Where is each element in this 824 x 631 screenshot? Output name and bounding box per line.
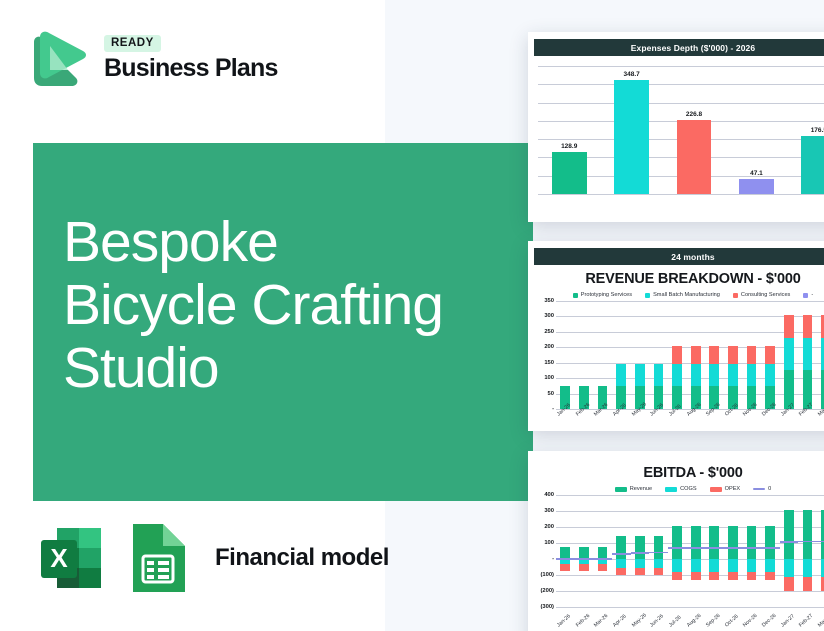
bar-segment [803, 338, 813, 370]
hero-panel: Bespoke Bicycle Crafting Studio [33, 143, 533, 501]
y-tick-label: 100 [544, 540, 554, 546]
bar-slot [817, 495, 824, 607]
bar-slot [556, 495, 575, 607]
bar-positive [747, 526, 757, 559]
revenue-chart-title: REVENUE BREAKDOWN - $'000 [528, 271, 824, 287]
x-tick-label: Sep-26 [705, 612, 723, 629]
bar: 128.9 [552, 152, 587, 194]
bar-segment [747, 526, 757, 559]
bar-slot [724, 495, 743, 607]
zero-line-segment [761, 547, 780, 549]
bar-slot [631, 495, 650, 607]
ebitda-legend: RevenueCOGSOPEX0 [528, 486, 824, 492]
bar-negative [616, 559, 626, 575]
bar-slot [817, 301, 824, 409]
legend-swatch [573, 293, 578, 298]
bar-segment [784, 559, 794, 577]
x-tick-label: Mar-27 [817, 612, 824, 629]
stacked-bar [616, 301, 626, 409]
bar-positive [579, 547, 589, 559]
legend-item: COGS [665, 486, 696, 492]
bar-slot [593, 301, 612, 409]
bar-slot [649, 301, 668, 409]
bar-slot: 348.7 [600, 66, 662, 194]
bar-slot [798, 301, 817, 409]
bar-segment [672, 364, 682, 386]
bar-segment [709, 346, 719, 364]
bar: 176.5 [801, 136, 824, 194]
bar-segment [784, 510, 794, 559]
poster-canvas: READY Business Plans Bespoke Bicycle Cra… [0, 0, 824, 631]
brand-logo-text: READY Business Plans [104, 35, 278, 81]
bar-negative [598, 559, 608, 571]
bar-segment [709, 572, 719, 580]
bar-slot [668, 301, 687, 409]
page-title: Bespoke Bicycle Crafting Studio [63, 211, 503, 400]
bar-segment [560, 547, 570, 559]
ebitda-y-axis: 400300200100-(100)(200)(300) [532, 495, 556, 607]
stacked-bar [560, 301, 570, 409]
stacked-bar [672, 301, 682, 409]
chart-card-expenses[interactable]: Expenses Depth ($'000) - 2026 128.9348.7… [528, 32, 824, 222]
bar-value-label: 176.5 [811, 127, 824, 134]
bar-segment [598, 564, 608, 571]
bar-segment [784, 338, 794, 370]
legend-item: Revenue [615, 486, 652, 492]
bar-segment [672, 346, 682, 364]
bar-negative [803, 559, 813, 591]
y-tick-label: 200 [544, 344, 554, 350]
y-tick-label: 150 [544, 360, 554, 366]
stacked-bar [747, 301, 757, 409]
legend-label: - [811, 292, 813, 298]
bar-segment [579, 564, 589, 571]
legend-item: Small Batch Manufacturing [645, 292, 720, 298]
bar-segment [747, 346, 757, 364]
ebitda-chart-title: EBITDA - $'000 [528, 465, 824, 481]
zero-line-segment [742, 547, 761, 549]
microsoft-excel-icon[interactable]: X [33, 520, 109, 596]
gridline [556, 607, 824, 608]
bar-segment [803, 315, 813, 338]
bar-value-label: 226.8 [686, 111, 702, 118]
bar-negative [709, 559, 719, 580]
legend-swatch [753, 488, 765, 490]
y-tick-label: - [552, 556, 554, 562]
bar-value-label: 348.7 [623, 71, 639, 78]
play-triangle-logo-icon [28, 26, 90, 90]
stacked-bar [598, 301, 608, 409]
expenses-plot-area: 128.9348.7226.847.1176.5 [538, 66, 824, 194]
bar-slot [705, 495, 724, 607]
bar-negative [654, 559, 664, 575]
stacked-bar [654, 301, 664, 409]
bar-value-label: 47.1 [750, 170, 763, 177]
bar-slot [649, 495, 668, 607]
bar-segment [728, 559, 738, 572]
legend-item: OPEX [710, 486, 741, 492]
x-tick-label: Mar-26 [593, 612, 611, 629]
bar-slot: 128.9 [538, 66, 600, 194]
bar-segment [728, 572, 738, 580]
y-tick-label: 300 [544, 313, 554, 319]
bar-positive [691, 526, 701, 559]
zero-line-segment [705, 547, 724, 549]
bar-segment [803, 577, 813, 591]
stacked-bar [784, 301, 794, 409]
bar-segment [616, 559, 626, 568]
stacked-bar [765, 301, 775, 409]
brand-logo-block[interactable]: READY Business Plans [28, 26, 278, 90]
bar-segment [784, 315, 794, 338]
bar-slot [612, 495, 631, 607]
bar-slot [612, 301, 631, 409]
bar-negative [765, 559, 775, 580]
legend-swatch [733, 293, 738, 298]
bar-slot [761, 301, 780, 409]
x-tick-label: Aug-26 [686, 612, 704, 629]
revenue-plot-area [556, 301, 824, 409]
bar-segment [635, 536, 645, 559]
bar-slot [780, 495, 799, 607]
ebitda-bars [556, 495, 824, 607]
legend-label: OPEX [725, 486, 741, 492]
bar-value-label: 128.9 [561, 143, 577, 150]
legend-swatch [665, 487, 677, 492]
bar-slot [556, 301, 575, 409]
legend-label: Consulting Services [741, 292, 790, 298]
revenue-y-axis: 35030025020015010050- [532, 301, 556, 409]
bar-segment [803, 559, 813, 577]
legend-label: Small Batch Manufacturing [653, 292, 720, 298]
bar-segment [691, 559, 701, 572]
bar-negative [691, 559, 701, 580]
bar-segment [728, 526, 738, 559]
y-tick-label: 300 [544, 508, 554, 514]
stacked-bar [728, 301, 738, 409]
expenses-chart-banner: Expenses Depth ($'000) - 2026 [534, 39, 824, 56]
y-tick-label: 100 [544, 375, 554, 381]
bar-slot [724, 301, 743, 409]
bar-segment [709, 559, 719, 572]
legend-swatch [803, 293, 808, 298]
bar-segment [803, 510, 813, 559]
bar-slot [686, 495, 705, 607]
zero-line-segment [649, 552, 668, 554]
revenue-chart-banner: 24 months [534, 248, 824, 265]
x-tick-label: Jan-27 [780, 612, 798, 629]
legend-label: COGS [680, 486, 696, 492]
bar-segment [672, 526, 682, 559]
bar: 47.1 [739, 179, 774, 194]
legend-label: Prototyping Services [581, 292, 632, 298]
bar-segment [616, 364, 626, 386]
zero-line-segment [631, 552, 650, 554]
y-tick-label: 50 [548, 391, 554, 397]
stacked-bar [709, 301, 719, 409]
y-tick-label: (300) [540, 604, 554, 610]
bar-positive [654, 536, 664, 559]
bar-segment [747, 559, 757, 572]
bar-segment [691, 572, 701, 580]
zero-line-segment [724, 547, 743, 549]
bar-positive [560, 547, 570, 559]
bar-slot [575, 495, 594, 607]
bar-segment [635, 559, 645, 568]
x-tick-label: May-26 [631, 612, 649, 629]
bar: 348.7 [614, 80, 649, 194]
zero-line-segment [575, 558, 594, 560]
bar-segment [765, 346, 775, 364]
bar-slot: 226.8 [663, 66, 725, 194]
x-tick-label: Jan-26 [556, 612, 574, 629]
bar-slot [575, 301, 594, 409]
bar-negative [747, 559, 757, 580]
google-sheets-icon[interactable] [127, 520, 191, 596]
legend-item: 0 [753, 486, 771, 492]
bar-segment [691, 364, 701, 386]
bar-positive [803, 510, 813, 559]
bar-negative [784, 559, 794, 591]
bar-slot [705, 301, 724, 409]
gridline [538, 194, 824, 195]
legend-swatch [615, 487, 627, 492]
legend-swatch [645, 293, 650, 298]
zero-line-segment [817, 541, 824, 543]
revenue-x-axis: Jan-26Feb-26Mar-26Apr-26May-26Jun-26Jul-… [556, 413, 824, 419]
bar-segment [728, 346, 738, 364]
zero-line-segment [612, 553, 631, 555]
ebitda-x-axis: Jan-26Feb-26Mar-26Apr-26May-26Jun-26Jul-… [556, 624, 824, 630]
zero-line-segment [798, 541, 817, 543]
bar-segment [560, 564, 570, 571]
y-tick-label: (100) [540, 572, 554, 578]
bar-segment [654, 568, 664, 575]
bar-slot [668, 495, 687, 607]
zero-line-segment [556, 558, 575, 560]
bar-segment [672, 572, 682, 580]
bar-positive [784, 510, 794, 559]
footer-formats-row: X Financial model [33, 520, 389, 596]
bar-negative [579, 559, 589, 571]
financial-model-label: Financial model [215, 544, 389, 572]
zero-line-segment [686, 547, 705, 549]
legend-label: 0 [768, 486, 771, 492]
bar-positive [765, 526, 775, 559]
chart-card-ebitda[interactable]: EBITDA - $'000 RevenueCOGSOPEX0 40030020… [528, 451, 824, 631]
bar-segment [654, 536, 664, 559]
x-tick-label: Jul-26 [668, 612, 686, 629]
bar-segment [709, 526, 719, 559]
bar-positive [728, 526, 738, 559]
bar-segment [616, 568, 626, 575]
x-tick-label: Jun-26 [649, 612, 667, 629]
bar-slot: 47.1 [725, 66, 787, 194]
zero-line-segment [668, 547, 687, 549]
bar-slot [780, 301, 799, 409]
x-tick-label: Nov-26 [742, 612, 760, 629]
bar-segment [654, 364, 664, 386]
bar-slot [593, 495, 612, 607]
bar-slot [742, 495, 761, 607]
bar-segment [691, 526, 701, 559]
bar-slot [798, 495, 817, 607]
x-tick-label: Feb-27 [798, 612, 816, 629]
revenue-bars [556, 301, 824, 409]
expenses-bars: 128.9348.7226.847.1176.5 [538, 66, 824, 194]
legend-swatch [710, 487, 722, 492]
bar-positive [709, 526, 719, 559]
bar-segment [635, 364, 645, 386]
bar-positive [672, 526, 682, 559]
y-tick-label: 350 [544, 298, 554, 304]
x-tick-label: Dec-26 [761, 612, 779, 629]
bar-negative [635, 559, 645, 575]
bar-segment [579, 547, 589, 559]
bar-segment [691, 346, 701, 364]
bar: 226.8 [677, 120, 712, 194]
bar-segment [709, 364, 719, 386]
bar-segment [784, 577, 794, 591]
legend-item: Prototyping Services [573, 292, 632, 298]
bar-positive [635, 536, 645, 559]
zero-line-segment [593, 558, 612, 560]
ready-badge: READY [104, 35, 161, 52]
bar-segment [728, 364, 738, 386]
chart-card-revenue[interactable]: 24 months REVENUE BREAKDOWN - $'000 Prot… [528, 241, 824, 431]
legend-item: Consulting Services [733, 292, 790, 298]
y-tick-label: - [552, 406, 554, 412]
stacked-bar [803, 301, 813, 409]
bar-segment [635, 568, 645, 575]
bar-segment [747, 572, 757, 580]
bar-slot [761, 495, 780, 607]
zero-line-segment [780, 541, 799, 543]
bar-slot: 176.5 [788, 66, 824, 194]
bar-slot [686, 301, 705, 409]
legend-item: - [803, 292, 813, 298]
brand-name: Business Plans [104, 56, 278, 81]
revenue-legend: Prototyping ServicesSmall Batch Manufact… [528, 292, 824, 298]
ebitda-plot-area [556, 495, 824, 607]
x-tick-label: Apr-26 [612, 612, 630, 629]
stacked-bar [635, 301, 645, 409]
bar-negative [672, 559, 682, 580]
bar-segment [765, 559, 775, 572]
svg-text:X: X [50, 543, 68, 573]
x-tick-label: Oct-26 [724, 612, 742, 629]
bar-slot [742, 301, 761, 409]
bar-segment [765, 364, 775, 386]
bar-segment [654, 559, 664, 568]
stacked-bar [579, 301, 589, 409]
bar-segment [747, 364, 757, 386]
bar-segment [672, 559, 682, 572]
bar-negative [560, 559, 570, 571]
bar-slot [631, 301, 650, 409]
bar-segment [765, 572, 775, 580]
legend-label: Revenue [630, 486, 652, 492]
y-tick-label: (200) [540, 588, 554, 594]
bar-segment [616, 536, 626, 559]
y-tick-label: 250 [544, 329, 554, 335]
stacked-bar [691, 301, 701, 409]
ebitda-axis-wrap: 400300200100-(100)(200)(300) [532, 495, 824, 607]
bar-positive [616, 536, 626, 559]
x-tick-label: Feb-26 [575, 612, 593, 629]
y-tick-label: 400 [544, 492, 554, 498]
y-tick-label: 200 [544, 524, 554, 530]
bar-segment [765, 526, 775, 559]
revenue-axis-wrap: 35030025020015010050- [532, 301, 824, 409]
bar-negative [728, 559, 738, 580]
